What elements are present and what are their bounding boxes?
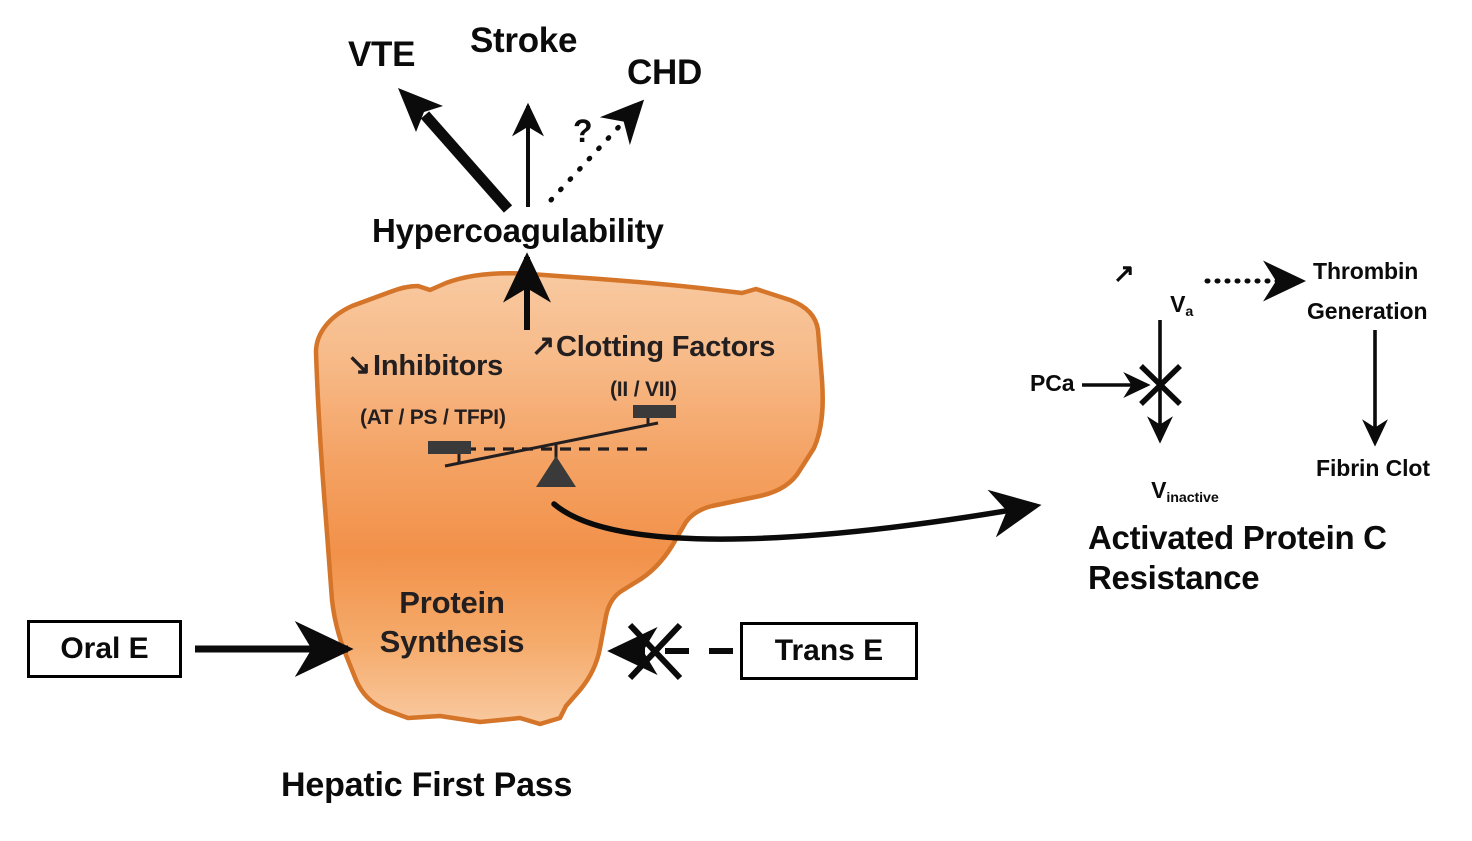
outcome-label-stroke: Stroke <box>470 20 577 61</box>
thrombin-generation-line2: Generation <box>1307 298 1427 325</box>
hypercoagulability-label: Hypercoagulability <box>372 212 664 251</box>
protein-synthesis-line1: Protein <box>357 585 547 622</box>
factor-v-letter: V <box>1151 477 1166 503</box>
fibrin-clot-label: Fibrin Clot <box>1316 455 1430 482</box>
transdermal-estrogen-box[interactable]: Trans E <box>740 622 918 680</box>
thrombin-generation-line1: Thrombin <box>1313 258 1418 285</box>
clotting-factors-label: Clotting Factors <box>556 330 775 364</box>
inhibitors-arrow-icon: ↘ <box>347 348 371 382</box>
pca-label: PCa <box>1030 370 1074 397</box>
dotted-arrow-icon-chd <box>551 104 640 200</box>
factor-va-subscript: a <box>1185 304 1193 320</box>
va-increase-arrow-icon: ↗ <box>1113 258 1135 289</box>
outcome-label-chd: CHD <box>627 52 702 93</box>
transdermal-estrogen-label: Trans E <box>775 634 883 668</box>
factor-v-subscript: inactive <box>1166 490 1218 506</box>
protein-synthesis-line2: Synthesis <box>357 624 547 661</box>
diagram-vector-layer <box>0 0 1472 841</box>
outcome-label-vte: VTE <box>348 34 415 75</box>
clotting-factors-detail-label: (II / VII) <box>610 378 677 403</box>
diagram-canvas: VTE Stroke CHD ? Hypercoagulability ↗ Cl… <box>0 0 1472 841</box>
factor-va-letter: V <box>1170 291 1185 317</box>
hepatic-first-pass-caption: Hepatic First Pass <box>281 765 572 805</box>
inhibitors-detail-label: (AT / PS / TFPI) <box>360 406 506 431</box>
clotting-factors-arrow-icon: ↗ <box>531 329 555 363</box>
inhibitors-label: Inhibitors <box>373 349 503 383</box>
question-mark-label: ? <box>573 113 593 151</box>
oral-estrogen-label: Oral E <box>60 632 148 666</box>
apc-resistance-title-line1: Activated Protein C <box>1088 518 1387 558</box>
oral-estrogen-box[interactable]: Oral E <box>27 620 182 678</box>
factor-va-label: Va <box>1145 264 1193 345</box>
dashed-blocked-arrow-icon <box>612 625 733 678</box>
thick-arrow-icon-vte <box>398 88 508 209</box>
apc-resistance-title-line2: Resistance <box>1088 558 1259 598</box>
